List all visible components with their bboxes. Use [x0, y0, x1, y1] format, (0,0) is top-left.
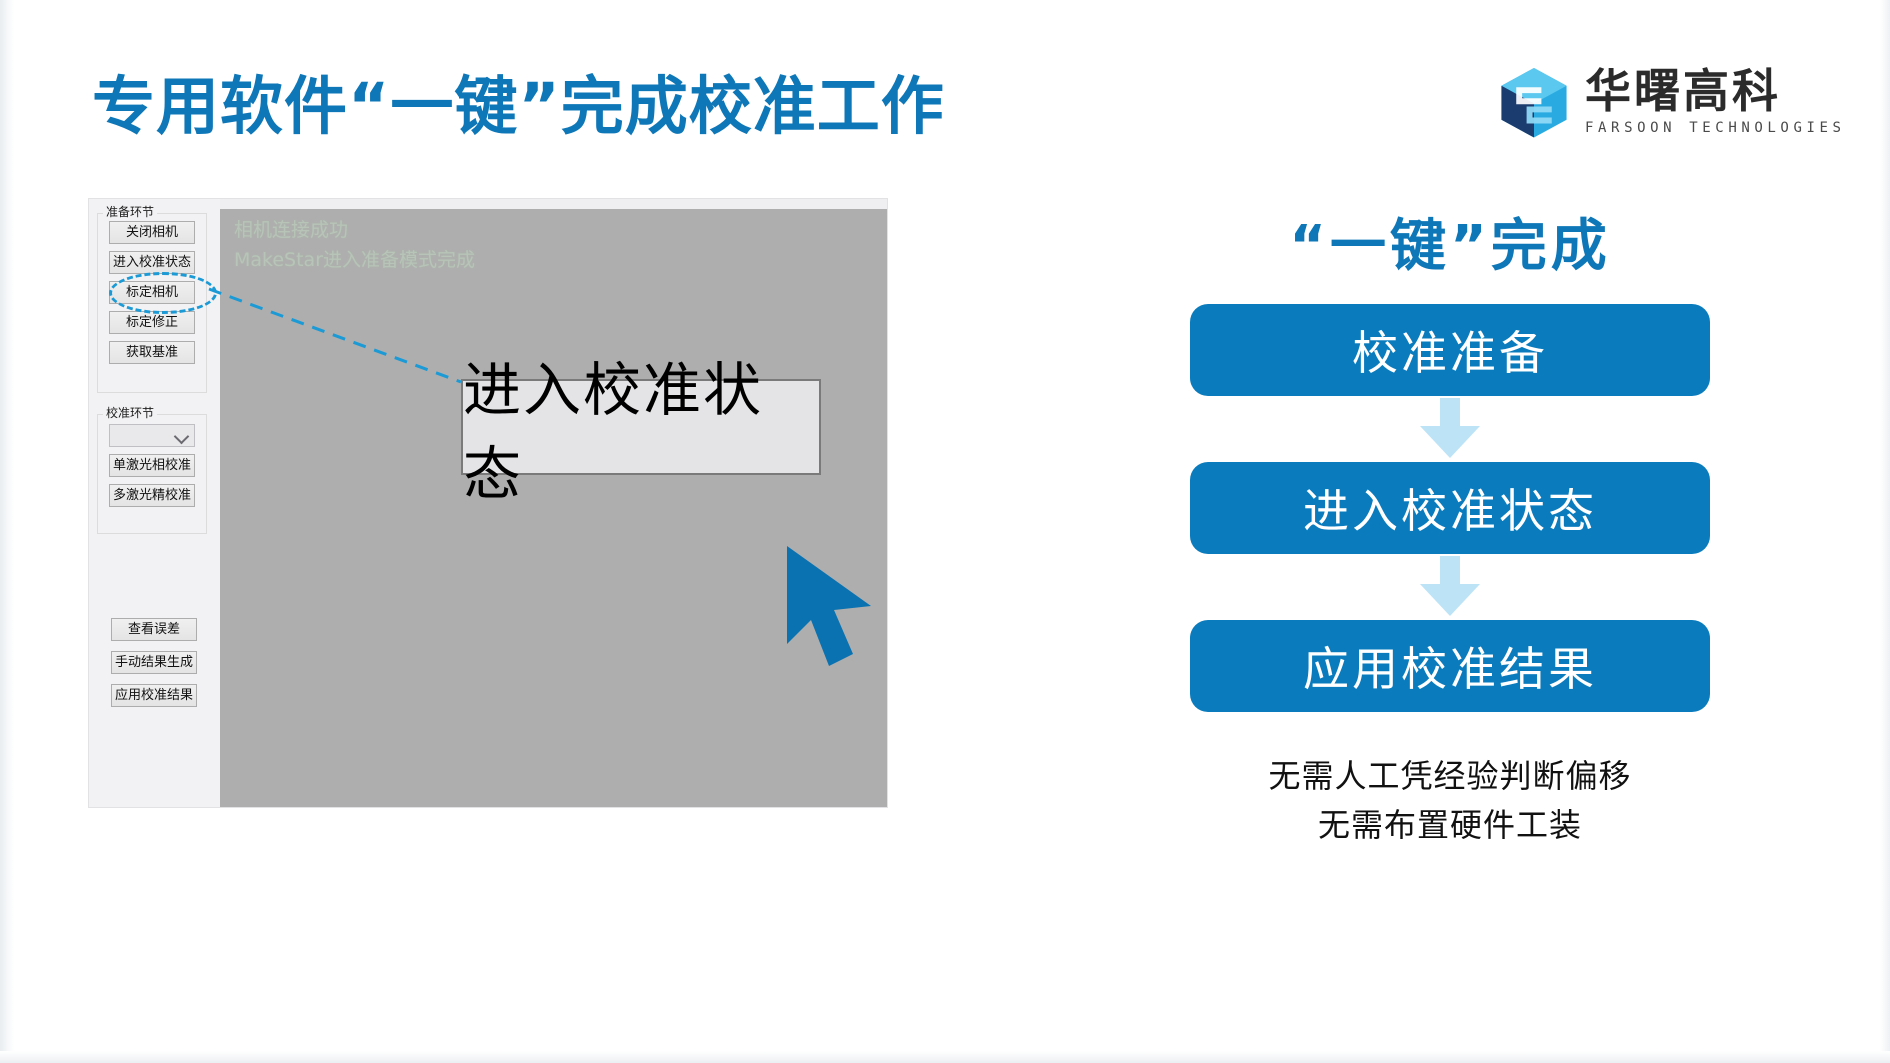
group-calibration: 校准环节 单激光相校准 多激光精校准: [97, 414, 207, 534]
flow-step-1: 校准准备: [1190, 304, 1710, 396]
flow-caption-line: 无需布置硬件工装: [1180, 801, 1720, 851]
slide-bottom-edge: [0, 1051, 1890, 1063]
brand-name-en: FARSOON TECHNOLOGIES: [1585, 120, 1846, 136]
slide-canvas: 专用软件“一键”完成校准工作 华曙高科 FARSOON TECHNOLOGIES…: [0, 0, 1890, 1063]
software-screenshot-panel: 相机连接成功 MakeStar进入准备模式完成 准备环节 关闭相机 进入校准状态…: [88, 198, 888, 808]
callout-label: 进入校准状态: [461, 379, 821, 475]
group-preparation-legend: 准备环节: [103, 203, 157, 220]
brand-wordmark: 华曙高科 FARSOON TECHNOLOGIES: [1585, 68, 1846, 136]
flow-heading: “一键”完成: [1180, 216, 1720, 278]
process-flow: “一键”完成 校准准备 进入校准状态 应用校准结果 无需人工凭经验判断偏移 无需…: [1180, 216, 1720, 851]
btn-calibration-correction[interactable]: 标定修正: [109, 311, 195, 334]
log-output: 相机连接成功 MakeStar进入准备模式完成: [234, 215, 475, 275]
brand-name-cn: 华曙高科: [1585, 68, 1846, 114]
flow-arrow-1: [1190, 396, 1710, 462]
mouse-pointer-icon: [779, 544, 888, 674]
btn-manual-result-generate[interactable]: 手动结果生成: [111, 651, 197, 674]
btn-enter-calibration-state[interactable]: 进入校准状态: [109, 251, 195, 274]
btn-single-laser-calibration[interactable]: 单激光相校准: [109, 454, 195, 477]
page-title: 专用软件“一键”完成校准工作: [92, 56, 945, 147]
btn-apply-calibration-result[interactable]: 应用校准结果: [111, 684, 197, 707]
flow-captions: 无需人工凭经验判断偏移 无需布置硬件工装: [1180, 752, 1720, 851]
slide-right-edge: [1880, 0, 1890, 1063]
flow-step-2: 进入校准状态: [1190, 462, 1710, 554]
cube-logo-icon: [1497, 65, 1571, 139]
laser-select-dropdown[interactable]: [109, 424, 195, 447]
chevron-down-icon: [174, 429, 190, 445]
group-calibration-legend: 校准环节: [103, 404, 157, 421]
log-line: 相机连接成功: [234, 215, 475, 245]
arrow-down-icon: [1414, 398, 1486, 460]
control-sidebar: 准备环节 关闭相机 进入校准状态 标定相机 标定修正 获取基准 校准环节 单激光…: [89, 199, 220, 807]
log-line: MakeStar进入准备模式完成: [234, 245, 475, 275]
flow-arrow-2: [1190, 554, 1710, 620]
btn-multi-laser-fine-calibration[interactable]: 多激光精校准: [109, 484, 195, 507]
btn-view-error[interactable]: 查看误差: [111, 618, 197, 641]
flow-step-3: 应用校准结果: [1190, 620, 1710, 712]
btn-calibrate-camera[interactable]: 标定相机: [109, 281, 195, 304]
brand-logo: 华曙高科 FARSOON TECHNOLOGIES: [1497, 65, 1846, 139]
arrow-down-icon: [1414, 556, 1486, 618]
btn-get-reference[interactable]: 获取基准: [109, 341, 195, 364]
group-preparation: 准备环节 关闭相机 进入校准状态 标定相机 标定修正 获取基准: [97, 213, 207, 393]
flow-caption-line: 无需人工凭经验判断偏移: [1180, 752, 1720, 802]
btn-close-camera[interactable]: 关闭相机: [109, 221, 195, 244]
slide-left-edge: [0, 0, 14, 1063]
